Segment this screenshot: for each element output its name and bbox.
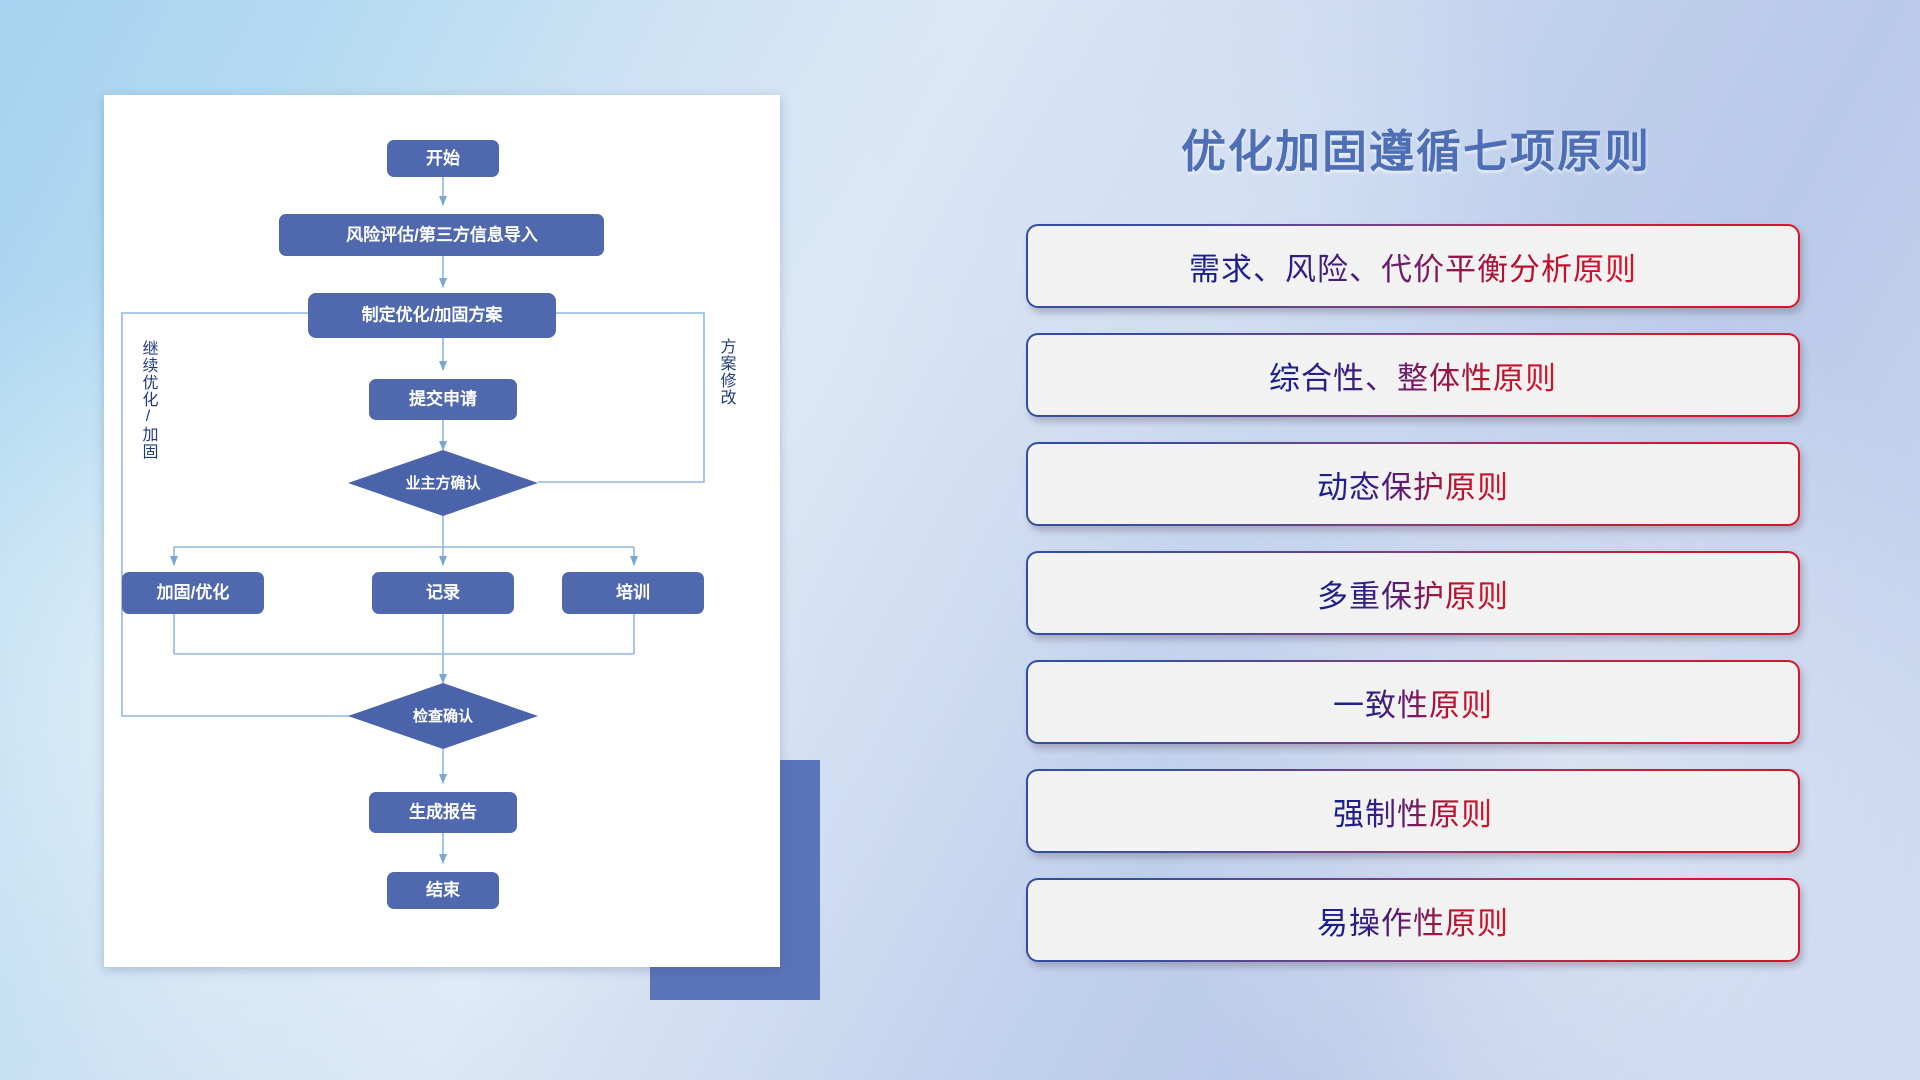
- edge-label-plan-revise: 方案修改: [718, 338, 737, 406]
- principle-label: 需求、风险、代价平衡分析原则: [1189, 244, 1637, 289]
- principle-label: 一致性原则: [1333, 680, 1493, 725]
- flow-node-training-label: 培训: [616, 582, 650, 602]
- flow-node-start-label: 开始: [426, 148, 460, 168]
- principle-card[interactable]: 易操作性原则: [1026, 878, 1800, 962]
- flow-node-plan: 制定优化/加固方案: [308, 293, 556, 338]
- flow-node-submit: 提交申请: [369, 379, 517, 420]
- flow-node-record: 记录: [372, 572, 514, 614]
- principle-card-inner: 多重保护原则: [1028, 553, 1798, 633]
- flow-node-record-label: 记录: [426, 583, 460, 602]
- principle-card[interactable]: 动态保护原则: [1026, 442, 1800, 526]
- flow-node-start: 开始: [387, 140, 499, 177]
- principle-card[interactable]: 综合性、整体性原则: [1026, 333, 1800, 417]
- principles-title: 优化加固遵循七项原则: [1026, 115, 1806, 180]
- principle-label: 强制性原则: [1333, 789, 1493, 834]
- flow-node-owner-confirm-label: 业主方确认: [405, 474, 481, 492]
- flow-node-plan-label: 制定优化/加固方案: [362, 304, 504, 324]
- principle-card-inner: 综合性、整体性原则: [1028, 335, 1798, 415]
- flow-node-check-confirm-label: 检查确认: [413, 707, 474, 725]
- flow-node-reinforce-label: 加固/优化: [156, 582, 230, 602]
- flow-node-report-label: 生成报告: [409, 801, 477, 821]
- principle-label: 多重保护原则: [1317, 571, 1509, 616]
- edge-owner-plan-revise: [509, 313, 704, 482]
- principle-card-inner: 易操作性原则: [1028, 880, 1798, 960]
- principle-label: 易操作性原则: [1317, 898, 1509, 943]
- flow-node-end-label: 结束: [426, 879, 460, 899]
- slide-canvas: 开始 风险评估/第三方信息导入 制定优化/加固方案 提交申请 业主方确认: [0, 0, 1920, 1080]
- principle-card[interactable]: 需求、风险、代价平衡分析原则: [1026, 224, 1800, 308]
- flow-node-end: 结束: [387, 872, 499, 909]
- principle-label: 综合性、整体性原则: [1269, 353, 1557, 398]
- flow-node-reinforce: 加固/优化: [122, 572, 264, 614]
- principles-list: 需求、风险、代价平衡分析原则 综合性、整体性原则 动态保护原则 多重保护原则: [1026, 224, 1806, 962]
- flow-node-risk-assessment-label: 风险评估/第三方信息导入: [346, 224, 538, 244]
- flow-node-training: 培训: [562, 572, 704, 614]
- principle-card-inner: 一致性原则: [1028, 662, 1798, 742]
- principles-panel: 优化加固遵循七项原则 需求、风险、代价平衡分析原则 综合性、整体性原则 动态保护…: [1026, 95, 1806, 995]
- flow-node-submit-label: 提交申请: [409, 388, 477, 408]
- flow-node-check-confirm: 检查确认: [348, 683, 538, 749]
- principle-card[interactable]: 一致性原则: [1026, 660, 1800, 744]
- flowchart-diagram: 开始 风险评估/第三方信息导入 制定优化/加固方案 提交申请 业主方确认: [104, 95, 780, 967]
- principle-card[interactable]: 多重保护原则: [1026, 551, 1800, 635]
- edge-label-continue-optimize: 继续优化/加固: [140, 340, 159, 460]
- flow-node-owner-confirm: 业主方确认: [348, 450, 538, 516]
- principle-label: 动态保护原则: [1317, 462, 1509, 507]
- flow-node-risk-assessment: 风险评估/第三方信息导入: [279, 214, 604, 256]
- flow-node-report: 生成报告: [369, 792, 517, 833]
- principle-card-inner: 需求、风险、代价平衡分析原则: [1028, 226, 1798, 306]
- principle-card-inner: 强制性原则: [1028, 771, 1798, 851]
- flowchart-card: 开始 风险评估/第三方信息导入 制定优化/加固方案 提交申请 业主方确认: [104, 95, 780, 967]
- principle-card[interactable]: 强制性原则: [1026, 769, 1800, 853]
- principle-card-inner: 动态保护原则: [1028, 444, 1798, 524]
- edge-check-plan-continue: [122, 313, 376, 716]
